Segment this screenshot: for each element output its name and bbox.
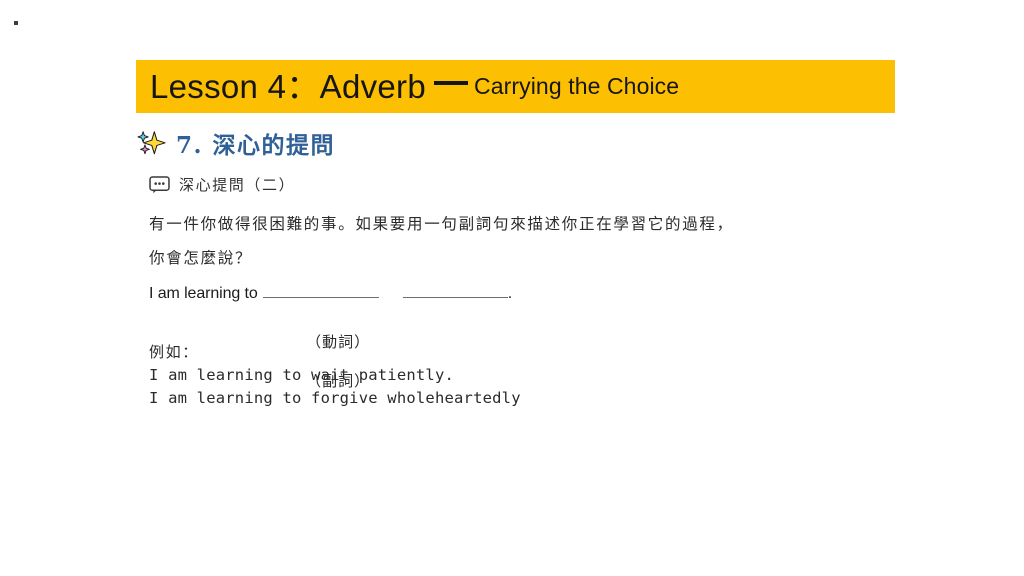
prompt-label-text: 深心提問（二）: [179, 174, 295, 195]
prompt-label: 深心提問（二）: [149, 174, 295, 195]
title-banner: Lesson 4：Adverb Carrying the Choice: [136, 60, 895, 113]
fill-in-blank-sentence: I am learning to .: [149, 283, 512, 303]
blank-field-adverb[interactable]: [403, 283, 508, 298]
speech-bubble-icon: [149, 176, 170, 194]
sentence-prefix: I am learning to: [149, 285, 258, 303]
hint-verb: （動詞）: [306, 333, 370, 351]
blank-field-verb[interactable]: [263, 283, 379, 298]
corner-mark: [14, 21, 18, 25]
lesson-subtitle: Carrying the Choice: [474, 75, 679, 98]
sentence-period: .: [508, 285, 512, 303]
em-dash-icon: [434, 81, 468, 85]
example-sentence-2: I am learning to forgive wholeheartedly: [149, 389, 521, 407]
body-paragraph-line-1: 有一件你做得很困難的事。如果要用一句副詞句來描述你正在學習它的過程，: [149, 212, 734, 234]
section-heading-label: 7. 深心的提問: [176, 126, 335, 160]
example-sentence-1: I am learning to wait patiently.: [149, 366, 454, 384]
lesson-title: Lesson 4：Adverb: [150, 70, 426, 103]
section-heading: 7. 深心的提問: [137, 126, 335, 160]
sparkles-icon: [137, 128, 167, 158]
examples-label: 例如：: [149, 341, 199, 362]
slide-canvas: Lesson 4：Adverb Carrying the Choice 7. 深…: [0, 0, 1024, 576]
body-paragraph-line-2: 你會怎麼說？: [149, 246, 252, 268]
